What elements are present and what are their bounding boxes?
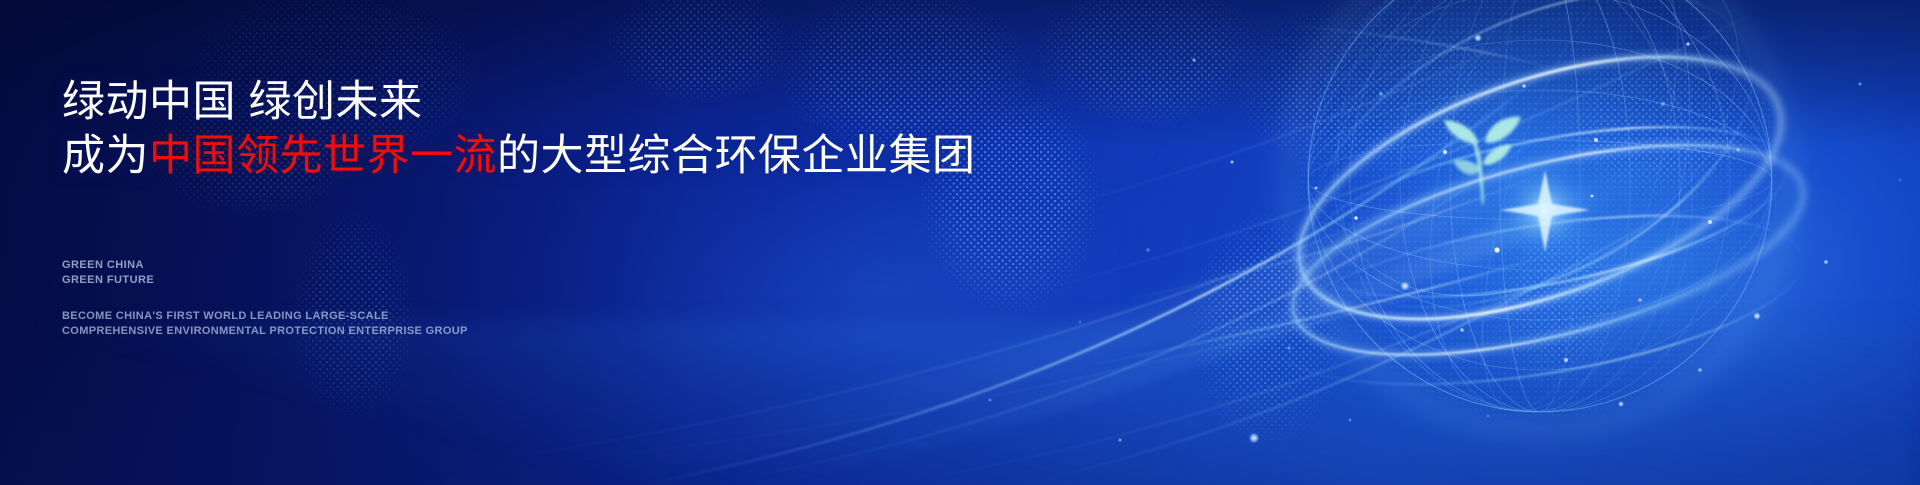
- bokeh-particles: [0, 0, 1920, 485]
- tagline-en: GREEN CHINA GREEN FUTURE: [62, 258, 154, 287]
- headline: 绿动中国 绿创未来 成为中国领先世界一流的大型综合环保企业集团: [62, 78, 976, 182]
- subtitle-en-line-1: BECOME CHINA'S FIRST WORLD LEADING LARGE…: [62, 309, 468, 324]
- hero-banner: 绿动中国 绿创未来 成为中国领先世界一流的大型综合环保企业集团 GREEN CH…: [0, 0, 1920, 485]
- tagline-en-line-2: GREEN FUTURE: [62, 273, 154, 288]
- tagline-en-line-1: GREEN CHINA: [62, 258, 154, 273]
- headline-line-1: 绿动中国 绿创未来: [62, 78, 976, 128]
- headline-line-2-highlight: 中国领先世界一流: [149, 132, 497, 180]
- headline-line-2-suffix: 的大型综合环保企业集团: [497, 132, 976, 180]
- subtitle-en: BECOME CHINA'S FIRST WORLD LEADING LARGE…: [62, 309, 468, 338]
- headline-line-2-prefix: 成为: [62, 132, 149, 180]
- subtitle-en-line-2: COMPREHENSIVE ENVIRONMENTAL PROTECTION E…: [62, 324, 468, 339]
- headline-line-2: 成为中国领先世界一流的大型综合环保企业集团: [62, 132, 976, 182]
